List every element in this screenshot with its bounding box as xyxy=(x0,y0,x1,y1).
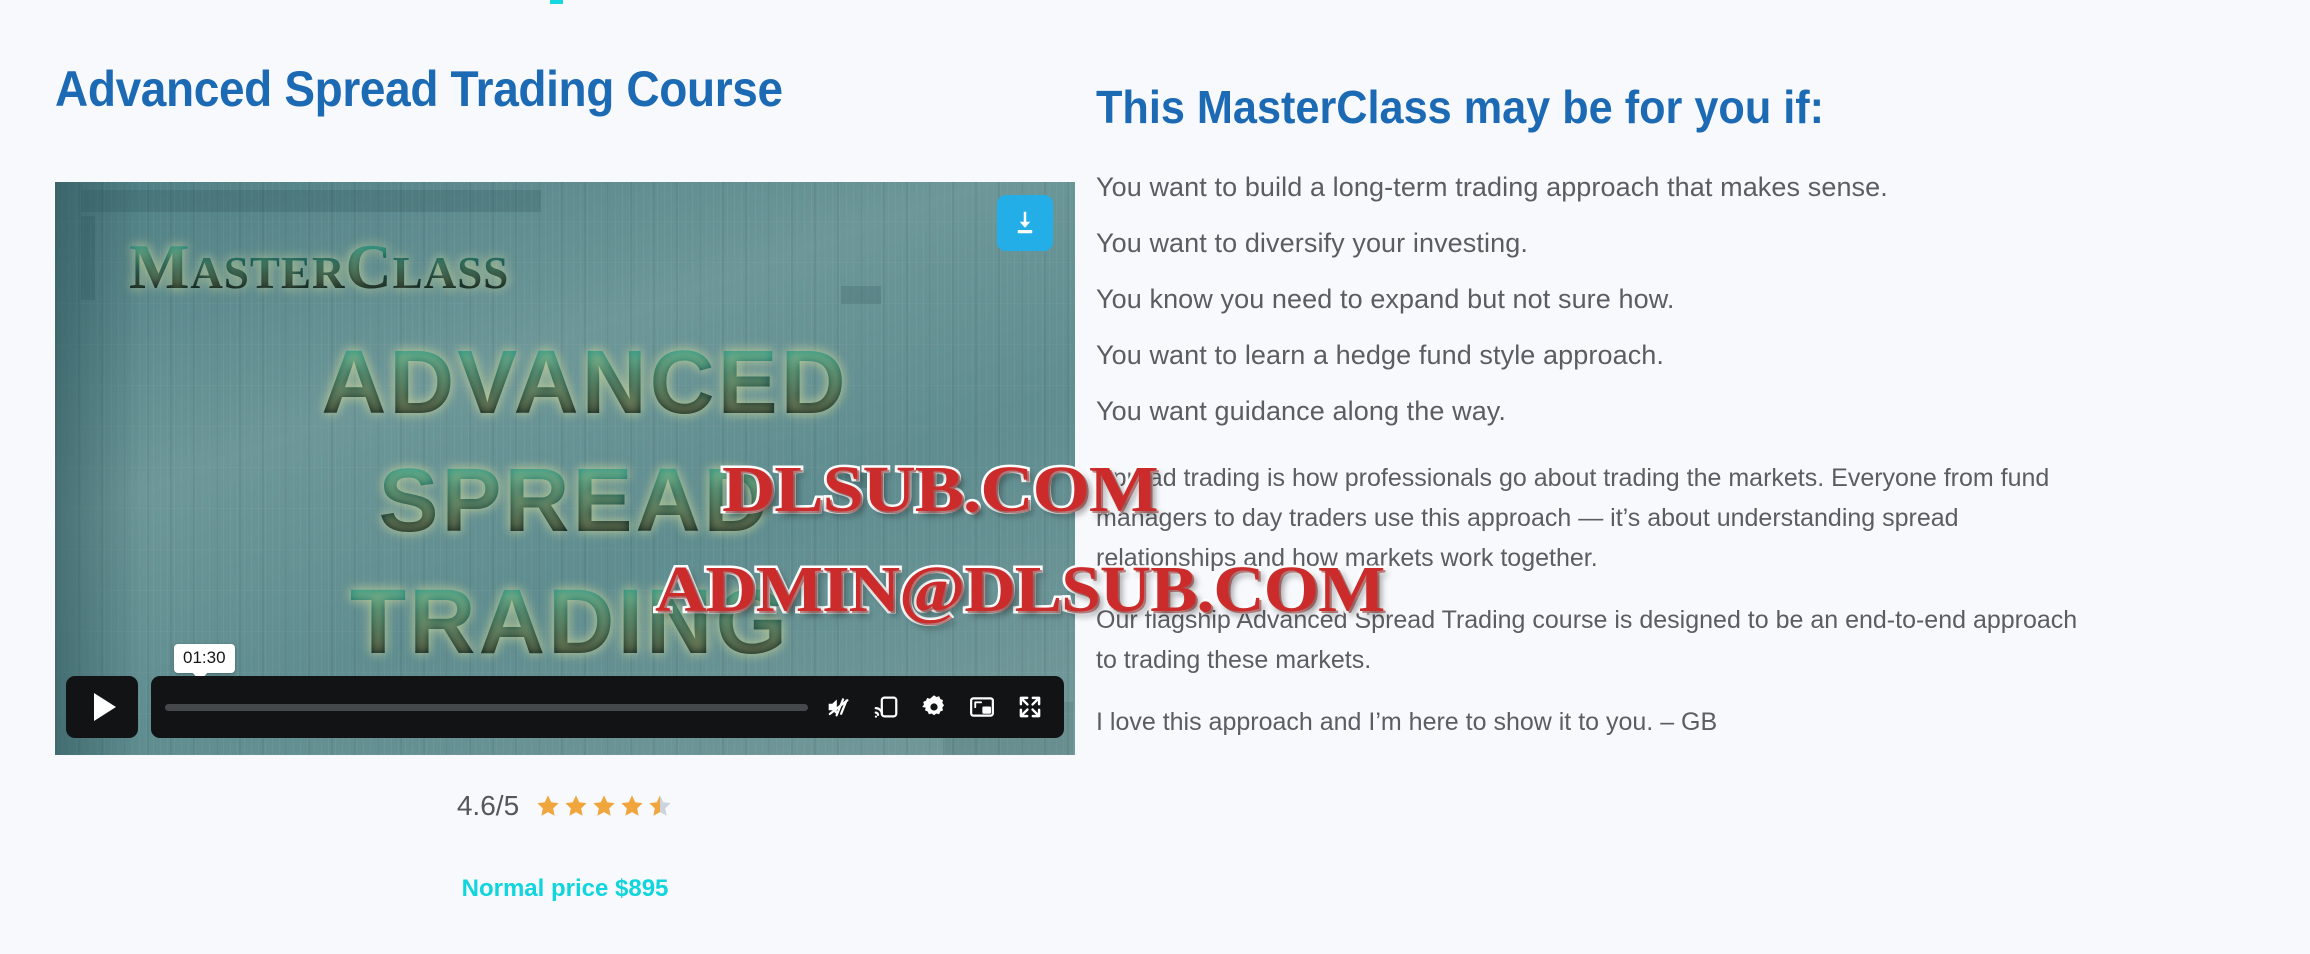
download-icon xyxy=(1010,208,1040,238)
list-item: You want to diversify your investing. xyxy=(1096,230,2216,257)
chart-artifact xyxy=(81,190,541,212)
list-item: You want guidance along the way. xyxy=(1096,398,2216,425)
volume-muted-icon[interactable] xyxy=(824,693,852,721)
star-icon-full xyxy=(619,793,645,819)
star-icon-full xyxy=(591,793,617,819)
qualification-list: You want to build a long-term trading ap… xyxy=(1096,174,2216,425)
picture-in-picture-icon[interactable] xyxy=(968,693,996,721)
star-icon-full xyxy=(535,793,561,819)
fullscreen-icon[interactable] xyxy=(1016,693,1044,721)
chart-artifact xyxy=(845,472,881,488)
list-item: You know you need to expand but not sure… xyxy=(1096,286,2216,313)
left-column: Advanced Spread Trading Course xyxy=(55,62,1075,117)
duration-tooltip: 01:30 xyxy=(174,644,235,673)
progress-bar[interactable] xyxy=(165,704,808,711)
settings-gear-icon[interactable] xyxy=(920,693,948,721)
chart-artifact xyxy=(841,286,881,304)
price-row: Normal price $895 xyxy=(55,875,1075,903)
page-root: Advanced Spread Trading Course MasterCla… xyxy=(0,0,2310,954)
video-player[interactable]: MasterClass ADVANCED SPREAD TRADING 01:3… xyxy=(55,182,1075,755)
description-paragraph: Spread trading is how professionals go a… xyxy=(1096,458,2096,578)
top-clipped-fragment xyxy=(550,0,563,4)
normal-price-label: Normal price $895 xyxy=(462,875,669,902)
description-paragraph: Our flagship Advanced Spread Trading cou… xyxy=(1096,600,2096,680)
chart-artifact xyxy=(81,216,95,300)
list-item: You want to learn a hedge fund style app… xyxy=(1096,342,2216,369)
star-icon-half xyxy=(647,793,673,819)
masterclass-heading: This MasterClass may be for you if: xyxy=(1096,82,2149,134)
play-button[interactable] xyxy=(66,676,138,738)
right-column: This MasterClass may be for you if: You … xyxy=(1096,82,2216,764)
star-rating xyxy=(535,793,673,819)
list-item: You want to build a long-term trading ap… xyxy=(1096,174,2216,201)
download-button[interactable] xyxy=(997,195,1053,251)
cast-icon[interactable] xyxy=(872,693,900,721)
rating-row: 4.6/5 xyxy=(55,790,1075,822)
course-title: Advanced Spread Trading Course xyxy=(55,62,993,117)
star-icon-full xyxy=(563,793,589,819)
video-control-bar xyxy=(151,676,1064,738)
rating-value: 4.6/5 xyxy=(457,790,519,822)
play-icon xyxy=(94,693,116,721)
control-icon-group xyxy=(824,693,1050,721)
description-paragraph: I love this approach and I’m here to sho… xyxy=(1096,702,2096,742)
